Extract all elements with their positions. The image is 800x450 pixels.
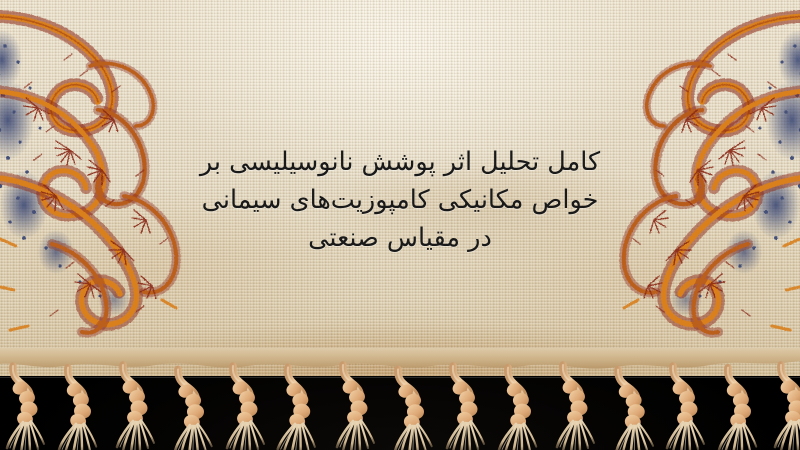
title-line-2: خواص مکانیکی کامپوزیت‌های سیمانی [0,181,800,219]
knotted-tassel-fringe [0,348,800,450]
title-line-1: کامل تحلیل اثر پوشش نانوسیلیسی بر [0,143,800,181]
title-line-3: در مقیاس صنعتی [0,219,800,257]
slide-canvas: کامل تحلیل اثر پوشش نانوسیلیسی بر خواص م… [0,0,800,450]
slide-title: کامل تحلیل اثر پوشش نانوسیلیسی بر خواص م… [0,143,800,257]
tassel-row [7,365,800,450]
